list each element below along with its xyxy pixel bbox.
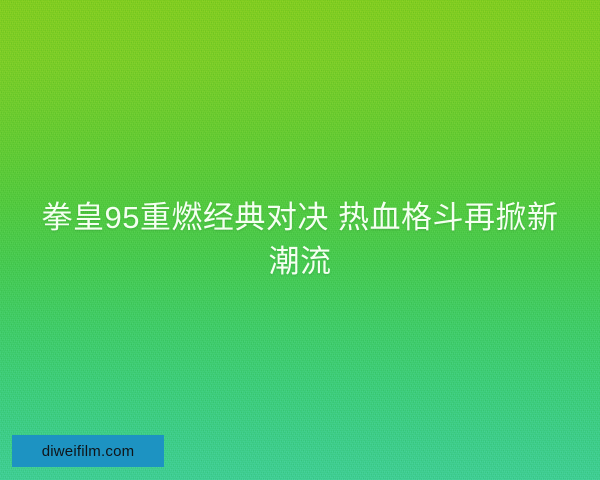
gradient-background — [0, 0, 600, 480]
watermark-label: diweifilm.com — [42, 444, 135, 459]
watermark-badge[interactable]: diweifilm.com — [12, 435, 164, 467]
cover-canvas: 拳皇95重燃经典对决 热血格斗再掀新潮流 diweifilm.com — [0, 0, 600, 480]
